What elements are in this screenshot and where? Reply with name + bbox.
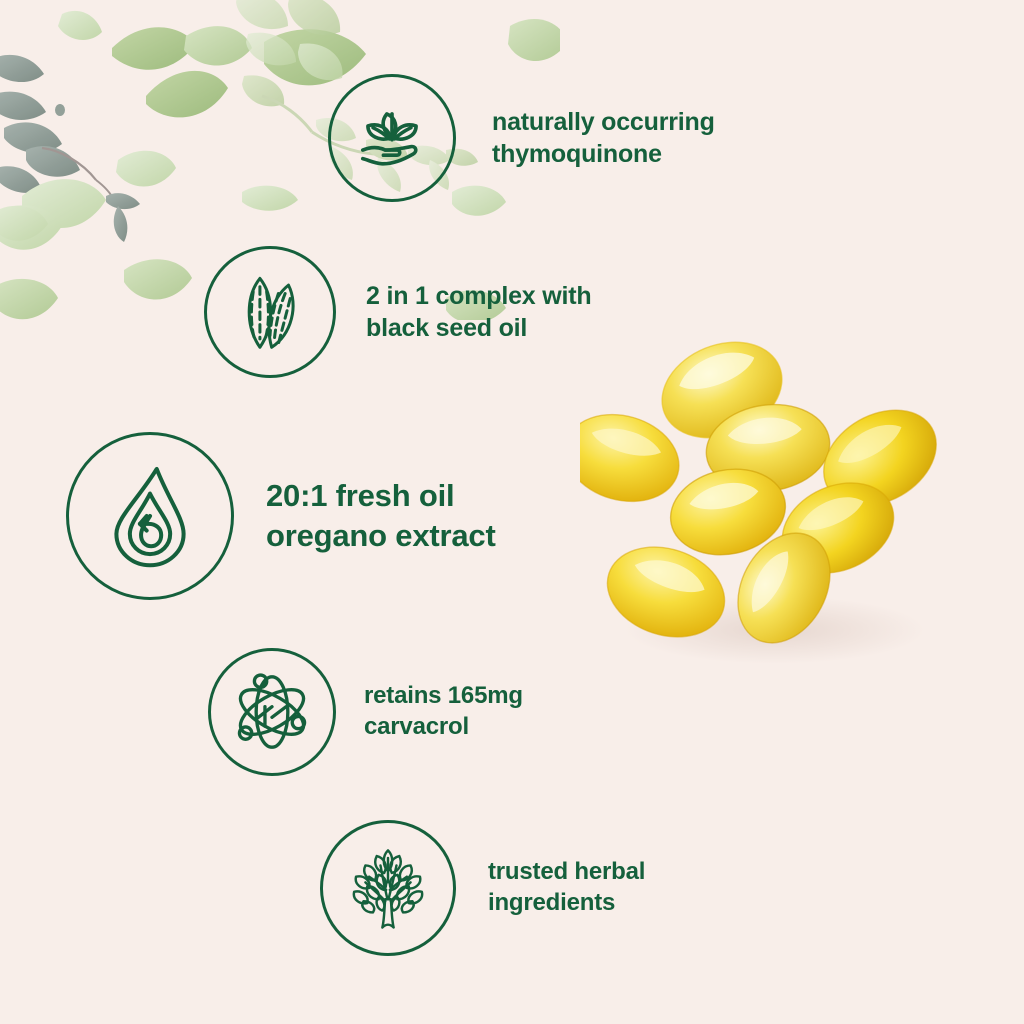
product-benefits-poster: naturally occurring thymoquinone 2 in 1 …	[0, 0, 1024, 1024]
plant-in-hand-icon	[349, 95, 435, 181]
feature-icon-badge	[204, 246, 336, 378]
capsule	[663, 459, 794, 565]
feature-icon-badge	[66, 432, 234, 600]
herbal-tree-icon	[341, 841, 435, 935]
capsule	[648, 330, 797, 455]
oil-droplet-icon	[94, 460, 206, 572]
feature-trusted-herbal-ingredients: trusted herbal ingredients	[320, 820, 645, 956]
capsule	[580, 402, 689, 515]
oregano-oil-softgel-capsules	[580, 330, 980, 670]
capsule	[720, 517, 849, 659]
capsule	[596, 533, 737, 652]
feature-label: trusted herbal ingredients	[488, 857, 645, 918]
black-seed-icon	[228, 270, 312, 354]
feature-icon-badge	[328, 74, 456, 202]
capsule	[701, 397, 836, 499]
feature-label: 2 in 1 complex with black seed oil	[366, 280, 591, 344]
feature-label: 20:1 fresh oil oregano extract	[266, 476, 496, 555]
gray-branch	[0, 55, 140, 242]
capsule	[768, 466, 908, 590]
feature-naturally-occurring-thymoquinone: naturally occurring thymoquinone	[328, 74, 715, 202]
molecule-atom-icon	[228, 668, 316, 756]
feature-label: naturally occurring thymoquinone	[492, 106, 715, 170]
feature-icon-badge	[208, 648, 336, 776]
capsule	[807, 391, 954, 525]
feature-two-in-one-complex: 2 in 1 complex with black seed oil	[204, 246, 591, 378]
feature-carvacrol-content: retains 165mg carvacrol	[208, 648, 523, 776]
feature-oregano-extract: 20:1 fresh oil oregano extract	[66, 432, 496, 600]
feature-icon-badge	[320, 820, 456, 956]
feature-label: retains 165mg carvacrol	[364, 681, 523, 742]
